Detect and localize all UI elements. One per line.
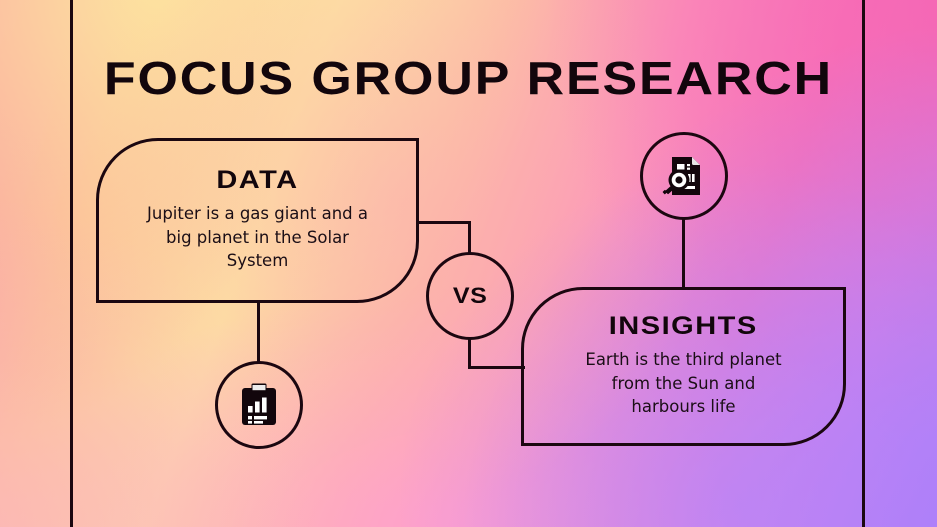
page-title: FOCUS GROUP RESEARCH [0,53,937,106]
connector-vs-to-insights-vertical [468,337,471,369]
vs-badge: VS [426,252,514,340]
card-insights-body: Earth is the third planet from the Sun a… [575,348,793,419]
card-data-body: Jupiter is a gas giant and a big planet … [143,202,373,273]
card-data[interactable]: DATA Jupiter is a gas giant and a big pl… [96,138,419,303]
card-data-heading: DATA [216,166,298,195]
icon-badge-data[interactable] [215,361,303,449]
vs-label: VS [453,283,488,309]
connector-icon-to-insights [682,218,685,290]
document-magnifier-icon [662,154,706,198]
connector-data-to-vs-horizontal [417,221,471,224]
connector-data-to-vs-vertical [468,221,471,255]
clipboard-bar-chart-icon [239,383,279,427]
slide-canvas: FOCUS GROUP RESEARCH DATA Jupiter is a g… [0,0,937,527]
connector-vs-to-insights-horizontal [468,366,525,369]
icon-badge-insights[interactable] [640,132,728,220]
card-insights-heading: INSIGHTS [609,312,758,341]
card-insights[interactable]: INSIGHTS Earth is the third planet from … [521,287,846,446]
connector-data-to-icon [257,301,260,363]
